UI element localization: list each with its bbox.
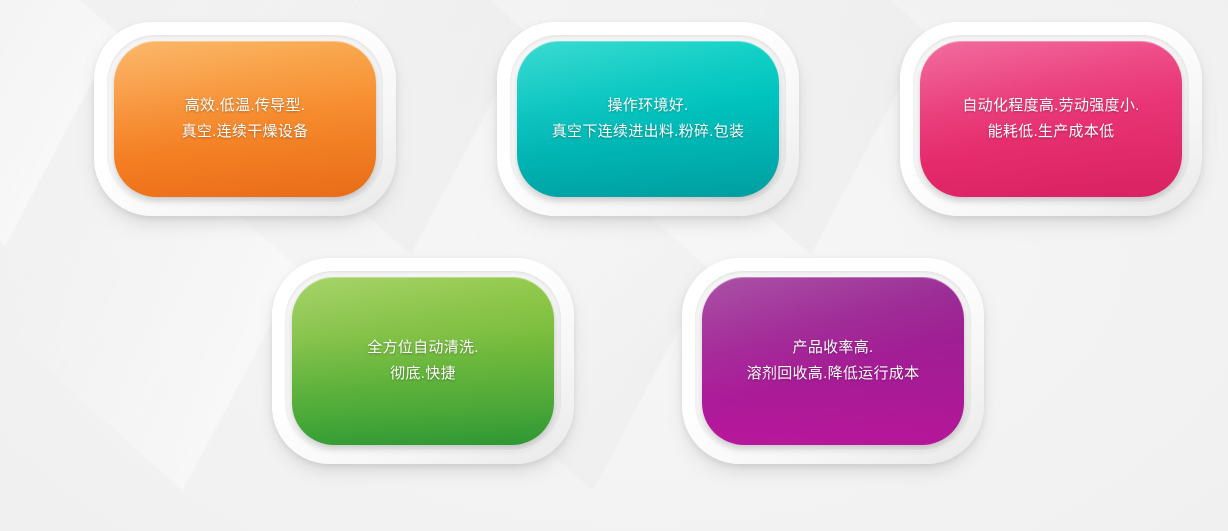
- card-text: 产品收率高. 溶剂回收高.降低运行成本: [733, 335, 934, 387]
- product-yield-card[interactable]: 产品收率高. 溶剂回收高.降低运行成本: [682, 258, 984, 464]
- card-color-panel: 自动化程度高.劳动强度小. 能耗低.生产成本低: [920, 41, 1182, 197]
- card-line-2: 真空下连续进出料.粉碎.包装: [552, 119, 745, 145]
- card-line-2: 溶剂回收高.降低运行成本: [747, 361, 920, 387]
- card-line-2: 能耗低.生产成本低: [962, 119, 1139, 145]
- auto-cleaning-card[interactable]: 全方位自动清洗. 彻底.快捷: [272, 258, 574, 464]
- card-color-panel: 高效.低温.传导型. 真空.连续干燥设备: [114, 41, 376, 197]
- automation-card[interactable]: 自动化程度高.劳动强度小. 能耗低.生产成本低: [900, 22, 1202, 216]
- card-text: 自动化程度高.劳动强度小. 能耗低.生产成本低: [948, 93, 1153, 145]
- card-line-2: 真空.连续干燥设备: [182, 119, 309, 145]
- operating-environment-card[interactable]: 操作环境好. 真空下连续进出料.粉碎.包装: [497, 22, 799, 216]
- card-color-panel: 操作环境好. 真空下连续进出料.粉碎.包装: [517, 41, 779, 197]
- card-line-2: 彻底.快捷: [367, 361, 479, 387]
- high-efficiency-card[interactable]: 高效.低温.传导型. 真空.连续干燥设备: [94, 22, 396, 216]
- card-text: 操作环境好. 真空下连续进出料.粉碎.包装: [538, 93, 759, 145]
- card-color-panel: 全方位自动清洗. 彻底.快捷: [292, 277, 554, 445]
- card-line-1: 自动化程度高.劳动强度小.: [962, 93, 1139, 119]
- card-line-1: 高效.低温.传导型.: [182, 93, 309, 119]
- card-line-1: 操作环境好.: [552, 93, 745, 119]
- card-line-1: 全方位自动清洗.: [367, 335, 479, 361]
- card-text: 高效.低温.传导型. 真空.连续干燥设备: [168, 93, 323, 145]
- feature-cards-stage: 高效.低温.传导型. 真空.连续干燥设备 操作环境好. 真空下连续进出料.粉碎.…: [0, 0, 1228, 531]
- card-text: 全方位自动清洗. 彻底.快捷: [353, 335, 493, 387]
- card-line-1: 产品收率高.: [747, 335, 920, 361]
- card-color-panel: 产品收率高. 溶剂回收高.降低运行成本: [702, 277, 964, 445]
